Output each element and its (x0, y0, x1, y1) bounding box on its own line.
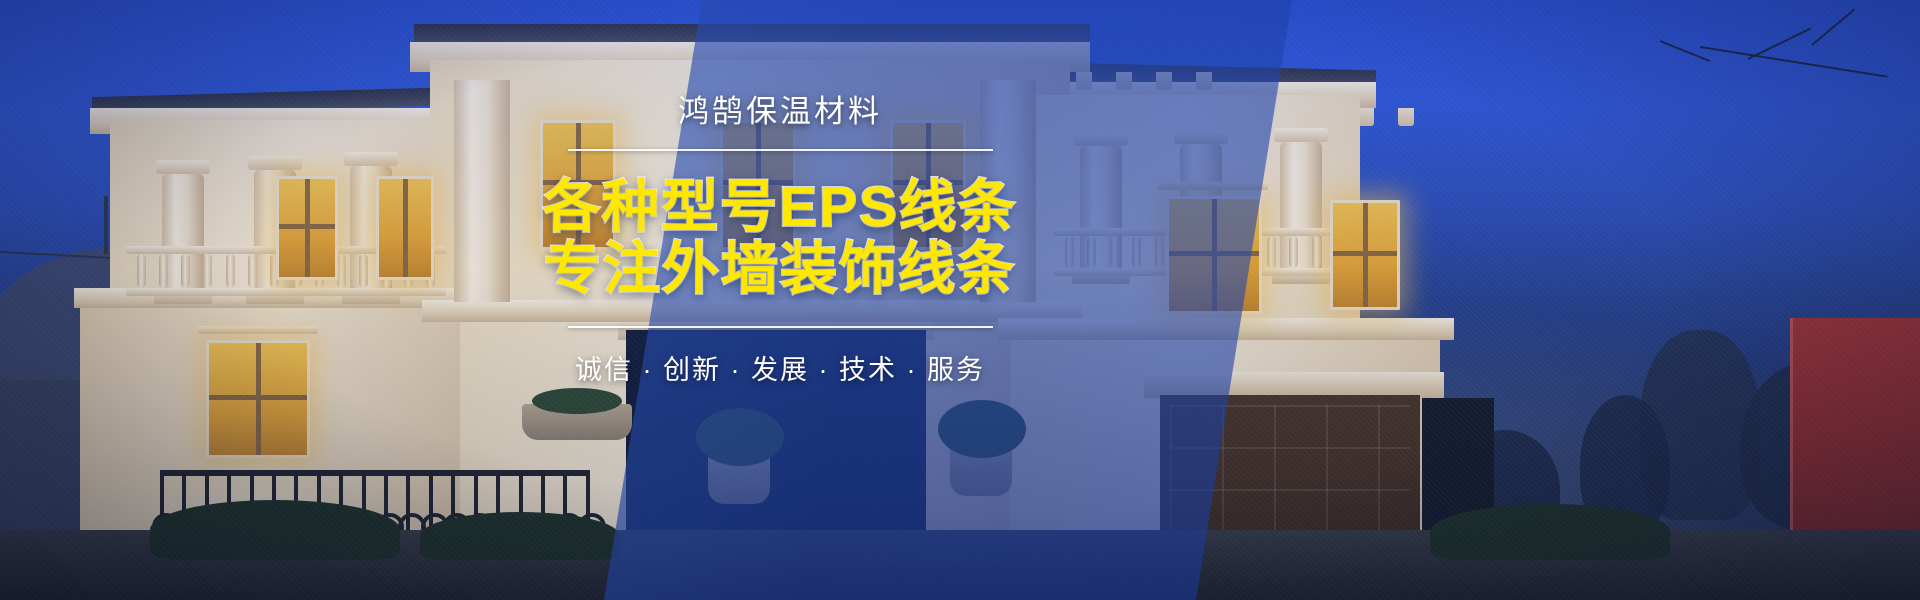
tagline: 诚信 · 创新 · 发展 · 技术 · 服务 (540, 348, 1020, 387)
headline-line-1: 各种型号EPS线条 (540, 177, 1020, 239)
banner-text-block: 鸿鹄保温材料 各种型号EPS线条 专注外墙装饰线条 诚信 · 创新 · 发展 ·… (540, 96, 1020, 387)
brand-name: 鸿鹄保温材料 (540, 96, 1020, 127)
headline-line-2: 专注外墙装饰线条 (540, 239, 1020, 301)
divider-bottom (568, 326, 993, 328)
headline-group: 各种型号EPS线条 专注外墙装饰线条 (540, 177, 1020, 300)
promo-banner: 鸿鹄保温材料 各种型号EPS线条 专注外墙装饰线条 诚信 · 创新 · 发展 ·… (0, 0, 1920, 600)
divider-top (568, 149, 993, 151)
